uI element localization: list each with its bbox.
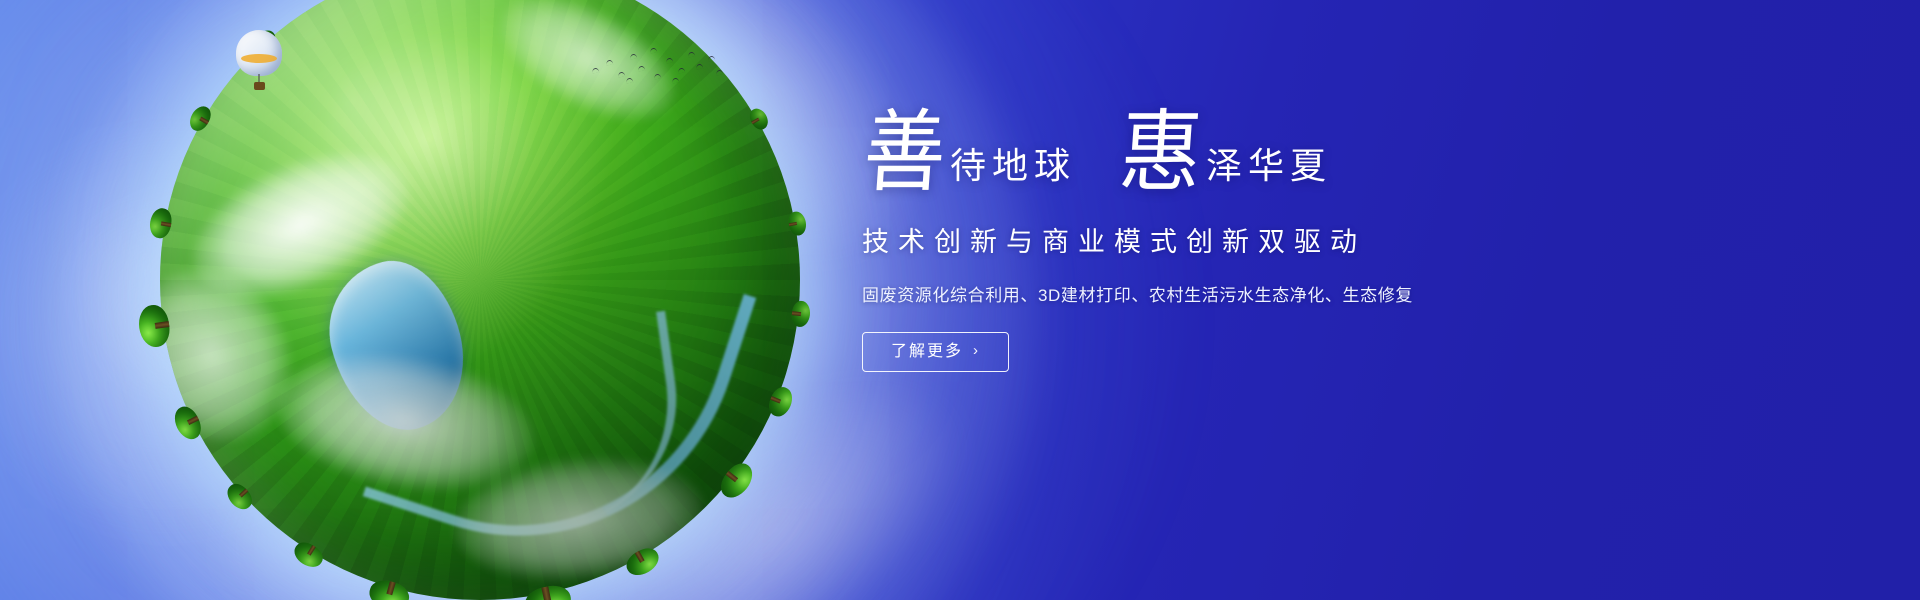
lake-shape — [314, 248, 479, 444]
bird-icon — [696, 64, 704, 70]
headline-lead-char-1: 善 — [861, 111, 957, 193]
headline-phrase-2: 惠 泽华夏 — [1118, 120, 1332, 194]
chevron-right-icon: › — [973, 343, 980, 358]
headline-lead-char-2: 惠 — [1117, 111, 1213, 193]
cloud-patch — [171, 123, 430, 326]
hero-description: 固废资源化综合利用、3D建材打印、农村生活污水生态净化、生态修复 — [862, 281, 1622, 306]
bird-icon — [716, 70, 724, 76]
bird-icon — [606, 60, 614, 66]
bird-icon — [672, 78, 680, 84]
bird-icon — [630, 54, 638, 60]
bird-icon — [688, 52, 696, 58]
balloon-basket — [254, 82, 265, 90]
hero-banner: 善 待地球 惠 泽华夏 技术创新与商业模式创新双驱动 固废资源化综合利用、3D建… — [0, 0, 1920, 600]
learn-more-label: 了解更多 — [891, 344, 963, 360]
river-shape — [363, 201, 756, 593]
bird-icon — [650, 48, 658, 54]
headline-phrase-1: 善 待地球 — [862, 120, 1076, 194]
bird-icon — [708, 56, 716, 62]
bird-icon — [592, 68, 600, 74]
balloon-stripe — [241, 54, 277, 63]
bird-icon — [678, 68, 686, 74]
hero-content: 善 待地球 惠 泽华夏 技术创新与商业模式创新双驱动 固废资源化综合利用、3D建… — [862, 120, 1622, 372]
hero-subtitle: 技术创新与商业模式创新双驱动 — [862, 220, 1622, 259]
balloon-envelope — [236, 30, 282, 76]
tree-trunk — [792, 311, 801, 316]
bird-icon — [618, 72, 626, 78]
bird-icon — [626, 78, 634, 84]
bird-icon — [666, 58, 674, 64]
bird-icon — [638, 66, 646, 72]
river-shape — [448, 311, 693, 540]
bird-flock-icon — [592, 46, 722, 92]
hot-air-balloon-icon — [236, 30, 282, 88]
page-title: 善 待地球 惠 泽华夏 — [862, 120, 1622, 194]
cloud-patch — [266, 335, 545, 508]
headline-rest-chars-2: 泽华夏 — [1206, 148, 1332, 194]
cloud-patch — [449, 446, 710, 591]
bird-icon — [654, 74, 662, 80]
headline-rest-chars-1: 待地球 — [950, 148, 1076, 194]
learn-more-button[interactable]: 了解更多 › — [862, 332, 1009, 372]
